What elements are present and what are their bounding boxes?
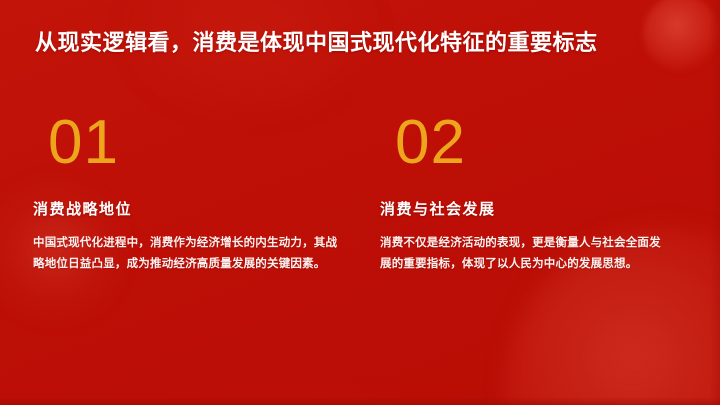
content-columns: 01 消费战略地位 中国式现代化进程中，消费作为经济增长的内生动力，其战略地位日… <box>0 112 720 276</box>
slide-title: 从现实逻辑看，消费是体现中国式现代化特征的重要标志 <box>35 28 598 58</box>
column-heading-01: 消费战略地位 <box>33 198 338 219</box>
content-column-2: 02 消费与社会发展 消费不仅是经济活动的表现，更是衡量人与社会全面发展的重要指… <box>350 112 690 276</box>
column-body-02: 消费不仅是经济活动的表现，更是衡量人与社会全面发展的重要指标，体现了以人民为中心… <box>380 233 670 276</box>
presentation-slide: 从现实逻辑看，消费是体现中国式现代化特征的重要标志 01 消费战略地位 中国式现… <box>0 0 720 405</box>
content-column-1: 01 消费战略地位 中国式现代化进程中，消费作为经济增长的内生动力，其战略地位日… <box>0 112 350 276</box>
column-number-01: 01 <box>48 112 338 184</box>
column-number-02: 02 <box>395 112 670 184</box>
column-body-01: 中国式现代化进程中，消费作为经济增长的内生动力，其战略地位日益凸显，成为推动经济… <box>33 233 338 276</box>
column-heading-02: 消费与社会发展 <box>380 198 670 219</box>
slide-content: 从现实逻辑看，消费是体现中国式现代化特征的重要标志 01 消费战略地位 中国式现… <box>0 0 720 405</box>
